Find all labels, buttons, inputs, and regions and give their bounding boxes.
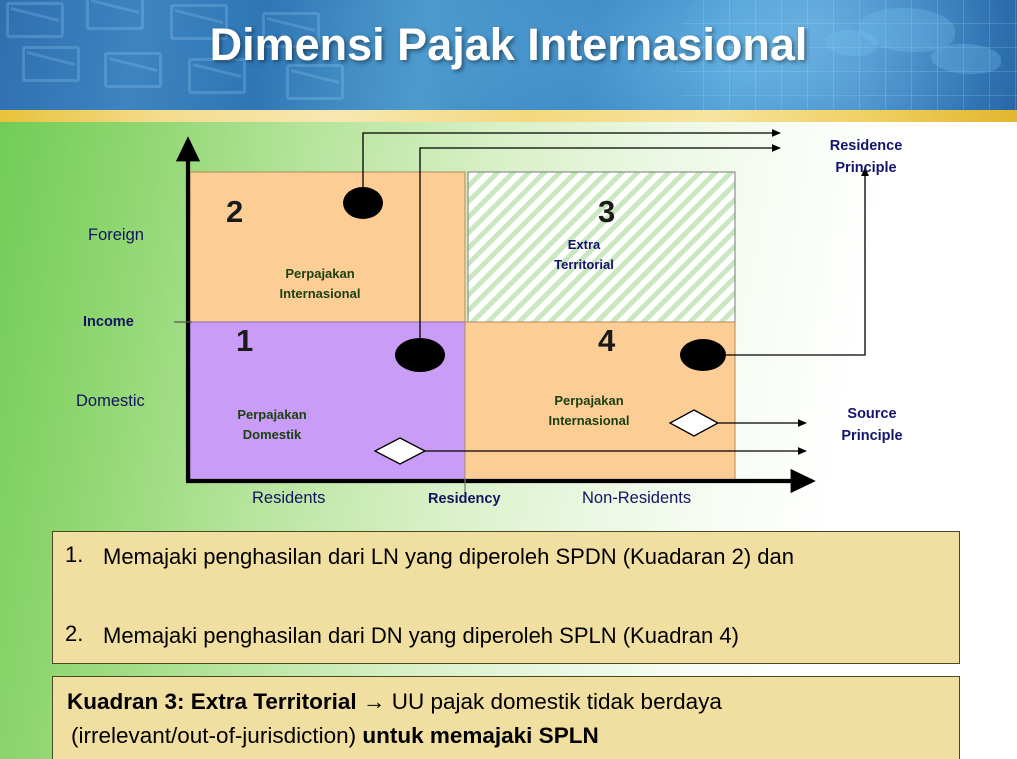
y-axis-label-domestic: Domestic bbox=[76, 392, 145, 411]
quadrant-2-label-line2: Internasional bbox=[244, 284, 396, 304]
quadrant-4-label: Perpajakan Internasional bbox=[513, 391, 665, 431]
kuadran3-line2-bold: untuk memajaki SPLN bbox=[362, 723, 598, 748]
x-axis-label-non-residents: Non-Residents bbox=[582, 489, 691, 508]
y-axis-label-foreign: Foreign bbox=[88, 226, 144, 245]
residence-principle-label: Residence Principle bbox=[804, 135, 928, 180]
x-axis-label-residency: Residency bbox=[428, 491, 501, 507]
arrow-right-icon: → bbox=[363, 689, 386, 714]
list-item-number: 2. bbox=[53, 621, 103, 651]
x-axis-label-residents: Residents bbox=[252, 489, 325, 508]
list-item-text: Memajaki penghasilan dari DN yang dipero… bbox=[103, 621, 923, 651]
kuadran3-line2-regular: (irrelevant/out-of-jurisdiction) bbox=[71, 723, 356, 748]
quadrant-2-label: Perpajakan Internasional bbox=[244, 264, 396, 304]
source-principle-label: Source Principle bbox=[812, 403, 932, 448]
connector-q4-to-residence bbox=[716, 168, 865, 355]
marker-ellipse-q4 bbox=[680, 339, 726, 371]
quadrant-diagram: 2 3 1 4 Perpajakan Internasional Extra T… bbox=[0, 122, 1017, 522]
kuadran3-line2: (irrelevant/out-of-jurisdiction) untuk m… bbox=[71, 723, 599, 749]
kuadran3-line1: Kuadran 3: Extra Territorial → UU pajak … bbox=[67, 689, 722, 715]
quadrant-3-label-line2: Territorial bbox=[508, 255, 660, 275]
list-item-number: 1. bbox=[53, 542, 103, 572]
residence-principle-line2: Principle bbox=[804, 157, 928, 179]
title-banner: Dimensi Pajak Internasional bbox=[0, 0, 1017, 110]
quadrant-3-number: 3 bbox=[598, 196, 615, 227]
quadrant-1-number: 1 bbox=[236, 325, 253, 356]
quadrant-3-label: Extra Territorial bbox=[508, 235, 660, 275]
quadrant-2-number: 2 bbox=[226, 196, 243, 227]
gold-divider-band bbox=[0, 110, 1017, 122]
quadrant-4-label-line1: Perpajakan bbox=[513, 391, 665, 411]
diagram-vector-layer bbox=[0, 122, 1017, 522]
list-item: 2. Memajaki penghasilan dari DN yang dip… bbox=[53, 621, 943, 651]
marker-ellipse-q1 bbox=[395, 338, 445, 372]
residence-principle-line1: Residence bbox=[804, 135, 928, 157]
y-axis-label-income: Income bbox=[83, 314, 134, 330]
quadrant-2-label-line1: Perpajakan bbox=[244, 264, 396, 284]
marker-ellipse-q2 bbox=[343, 187, 383, 219]
quadrant-1-label-line2: Domestik bbox=[196, 425, 348, 445]
kuadran3-line1-rest: UU pajak domestik tidak berdaya bbox=[392, 689, 722, 714]
page-title: Dimensi Pajak Internasional bbox=[0, 19, 1017, 71]
kuadran3-box: Kuadran 3: Extra Territorial → UU pajak … bbox=[52, 676, 960, 759]
quadrant-1-label: Perpajakan Domestik bbox=[196, 405, 348, 445]
source-principle-line2: Principle bbox=[812, 425, 932, 447]
notes-box: 1. Memajaki penghasilan dari LN yang dip… bbox=[52, 531, 960, 664]
kuadran3-bold-head: Kuadran 3: Extra Territorial bbox=[67, 689, 357, 714]
quadrant-4-label-line2: Internasional bbox=[513, 411, 665, 431]
quadrant-3-label-line1: Extra bbox=[508, 235, 660, 255]
list-item: 1. Memajaki penghasilan dari LN yang dip… bbox=[53, 542, 943, 572]
quadrant-4-number: 4 bbox=[598, 325, 615, 356]
list-item-text: Memajaki penghasilan dari LN yang dipero… bbox=[103, 542, 923, 572]
quadrant-1-label-line1: Perpajakan bbox=[196, 405, 348, 425]
source-principle-line1: Source bbox=[812, 403, 932, 425]
